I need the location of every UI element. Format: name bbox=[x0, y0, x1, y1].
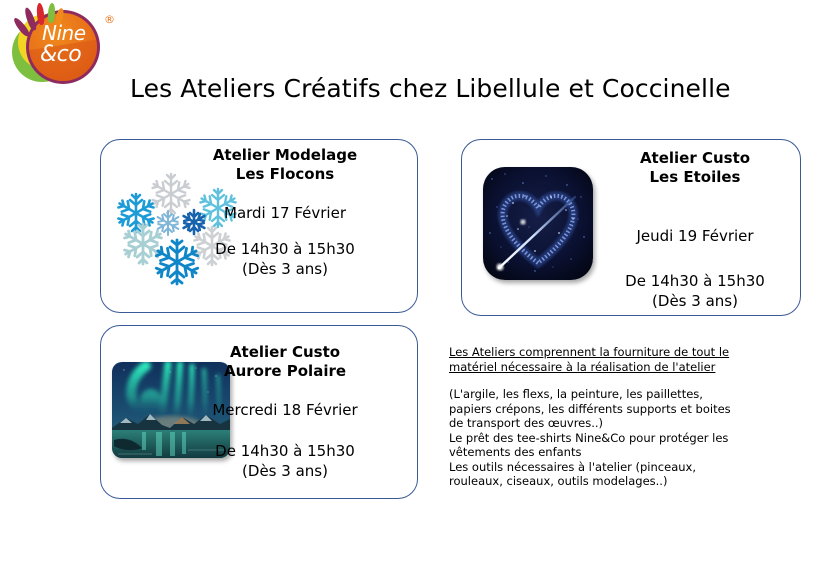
card-age-note: (Dès 3 ans) bbox=[160, 461, 410, 481]
logo-text-andco: &co bbox=[40, 42, 81, 67]
card-time-range: De 14h30 à 15h30 bbox=[160, 239, 410, 259]
card-time-range: De 14h30 à 15h30 bbox=[160, 441, 410, 461]
card-heading-flocons: Atelier Modelage Les Flocons bbox=[160, 146, 410, 184]
card-date-aurore: Mercredi 18 Février bbox=[160, 400, 410, 420]
registered-trademark-icon: ® bbox=[104, 13, 115, 26]
page-title: Les Ateliers Créatifs chez Libellule et … bbox=[130, 74, 790, 103]
card-heading-aurore: Atelier Custo Aurore Polaire bbox=[160, 343, 410, 381]
nine-and-co-logo: Nine &co ® bbox=[4, 2, 126, 84]
card-heading-line2: Aurore Polaire bbox=[160, 362, 410, 381]
info-line: rouleaux, ciseaux, outils modelages..) bbox=[449, 474, 749, 489]
info-heading-line2: matériel nécessaire à la réalisation de … bbox=[449, 360, 749, 375]
card-age-note: (Dès 3 ans) bbox=[160, 259, 410, 279]
info-heading-line1: Les Ateliers comprennent la fourniture d… bbox=[449, 345, 749, 360]
card-time-flocons: De 14h30 à 15h30 (Dès 3 ans) bbox=[160, 239, 410, 279]
card-date-flocons: Mardi 17 Février bbox=[160, 203, 410, 223]
info-line: Le prêt des tee-shirts Nine&Co pour prot… bbox=[449, 431, 749, 446]
info-line: (L'argile, les flexs, la peinture, les p… bbox=[449, 387, 749, 402]
info-line: Les outils nécessaires à l'atelier (pinc… bbox=[449, 460, 749, 475]
info-line: vêtements des enfants bbox=[449, 445, 749, 460]
card-heading-line1: Atelier Custo bbox=[570, 149, 820, 168]
card-time-etoiles: De 14h30 à 15h30 (Dès 3 ans) bbox=[570, 271, 820, 311]
card-time-aurore: De 14h30 à 15h30 (Dès 3 ans) bbox=[160, 441, 410, 481]
card-heading-line1: Atelier Modelage bbox=[160, 146, 410, 165]
card-heading-line2: Les Flocons bbox=[160, 165, 410, 184]
card-heading-line1: Atelier Custo bbox=[160, 343, 410, 362]
card-heading-line2: Les Etoiles bbox=[570, 168, 820, 187]
info-heading: Les Ateliers comprennent la fourniture d… bbox=[449, 345, 749, 374]
card-age-note: (Dès 3 ans) bbox=[570, 291, 820, 311]
info-line: papiers crépons, les différents supports… bbox=[449, 402, 749, 417]
card-time-range: De 14h30 à 15h30 bbox=[570, 271, 820, 291]
card-heading-etoiles: Atelier Custo Les Etoiles bbox=[570, 149, 820, 187]
card-date-etoiles: Jeudi 19 Février bbox=[570, 226, 820, 246]
info-line: de transport des œuvres..) bbox=[449, 416, 749, 431]
info-block: Les Ateliers comprennent la fourniture d… bbox=[449, 345, 749, 489]
